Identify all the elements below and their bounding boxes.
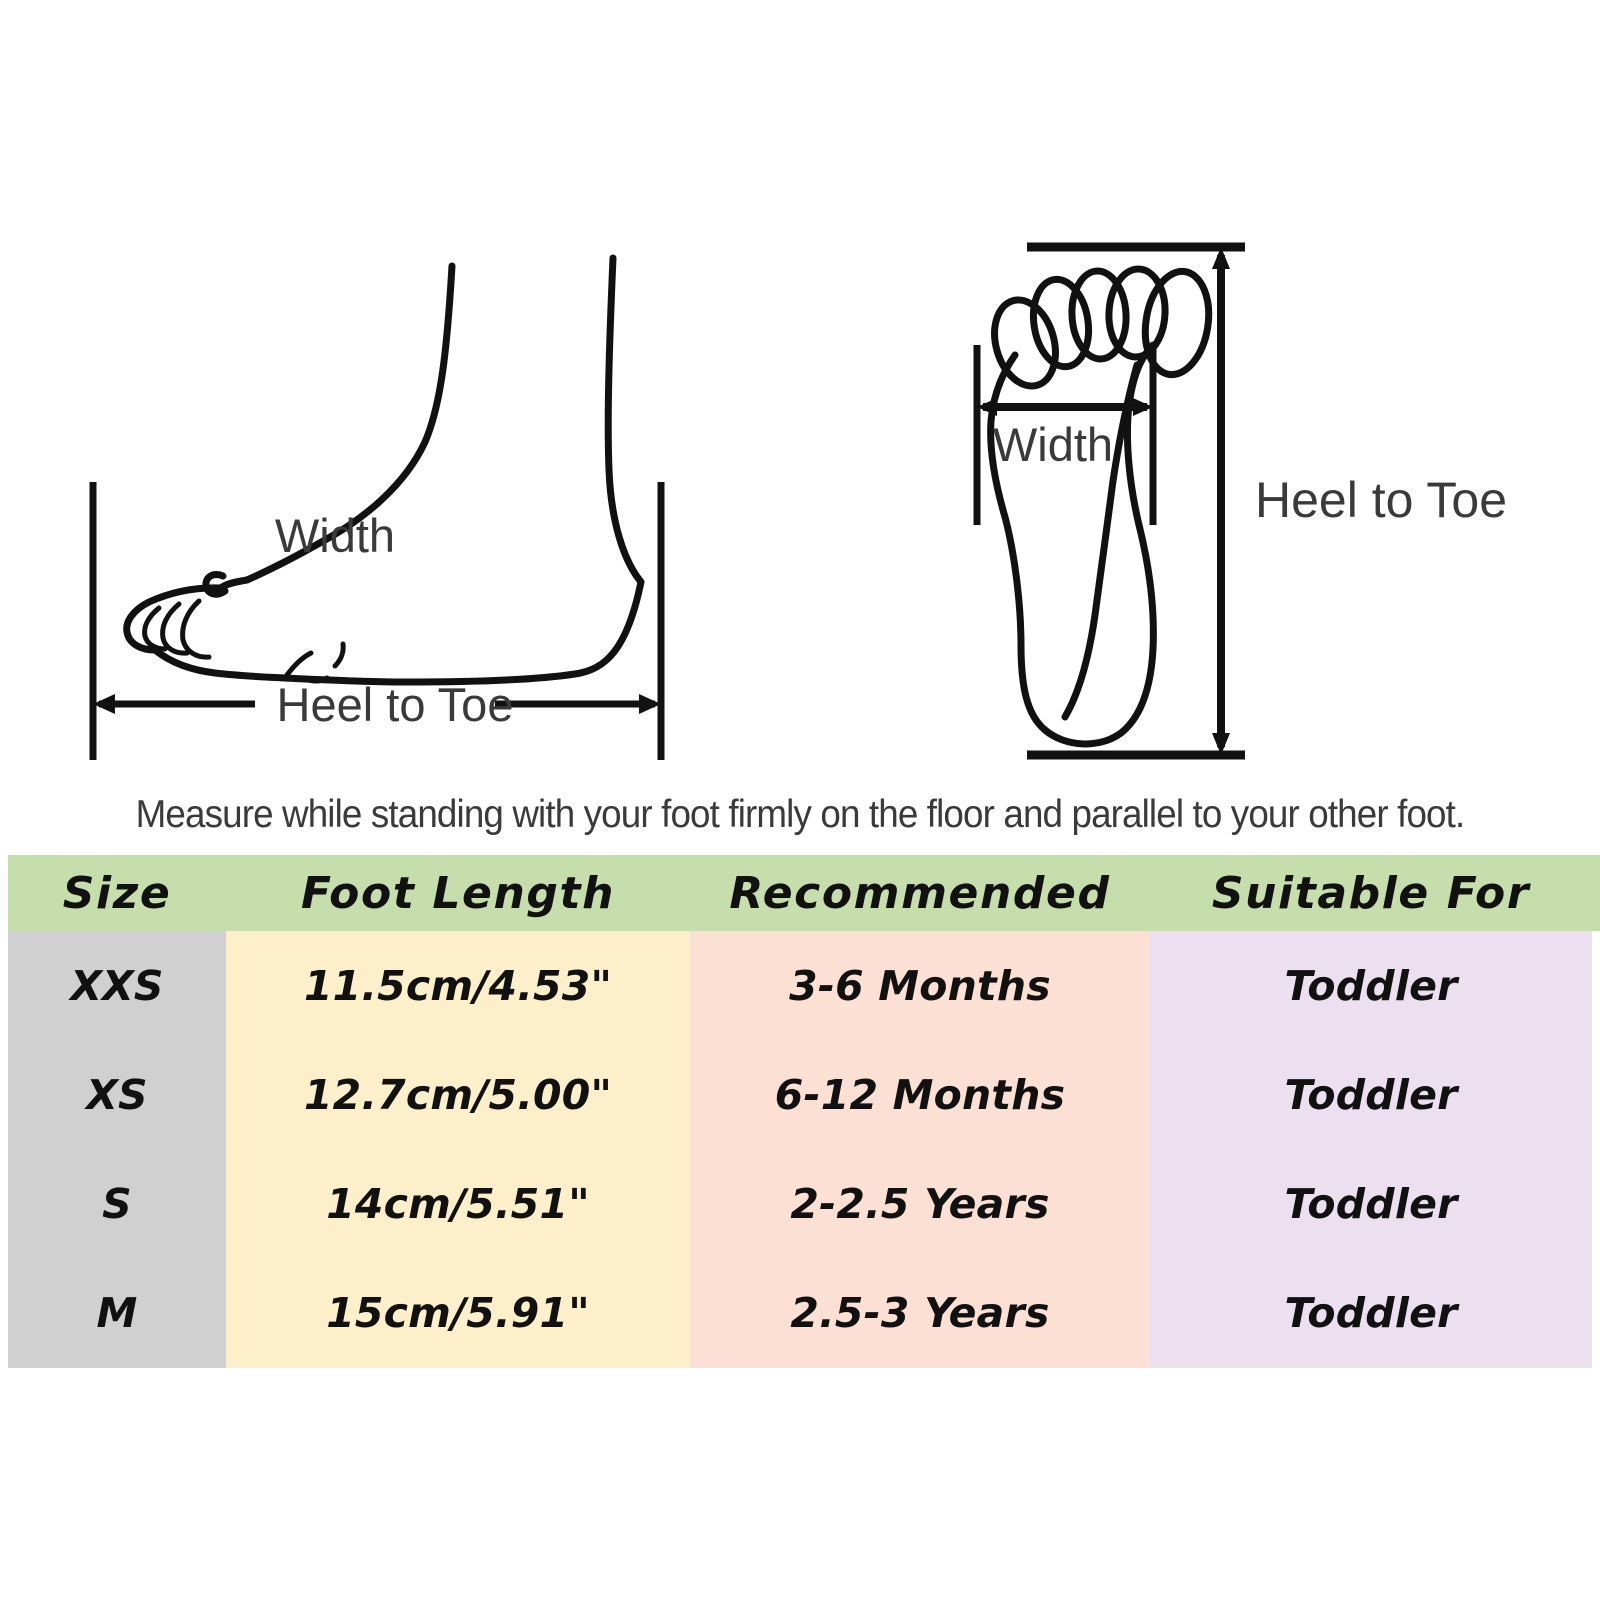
measurement-diagrams: Heel to Toe Width (0, 230, 1600, 790)
cell-size: S (8, 1150, 226, 1259)
table-header-row: Size Foot Length Recommended Suitable Fo… (8, 855, 1592, 931)
cell-size: XS (8, 1040, 226, 1149)
cell-recommended: 2.5-3 Years (690, 1259, 1150, 1368)
column-header-size: Size (8, 855, 226, 931)
cell-suitable-for: Toddler (1150, 1259, 1592, 1368)
cell-recommended: 2-2.5 Years (690, 1150, 1150, 1259)
cell-foot-length: 12.7cm/5.00" (226, 1040, 690, 1149)
foot-top-view-diagram: Width Heel to Toe (915, 225, 1555, 785)
cell-suitable-for: Toddler (1150, 1040, 1592, 1149)
cell-foot-length: 11.5cm/4.53" (226, 931, 690, 1040)
cell-recommended: 3-6 Months (690, 931, 1150, 1040)
cell-foot-length: 14cm/5.51" (226, 1150, 690, 1259)
size-chart-table: Size Foot Length Recommended Suitable Fo… (8, 855, 1592, 1368)
cell-size: XXS (8, 931, 226, 1040)
cell-foot-length: 15cm/5.91" (226, 1259, 690, 1368)
table-row: XS 12.7cm/5.00" 6-12 Months Toddler (8, 1040, 1592, 1149)
cell-size: M (8, 1259, 226, 1368)
side-view-heel-to-toe-label: Heel to Toe (277, 678, 514, 731)
cell-recommended: 6-12 Months (690, 1040, 1150, 1149)
top-view-heel-to-toe-label: Heel to Toe (1255, 472, 1507, 528)
cell-suitable-for: Toddler (1150, 931, 1592, 1040)
foot-top-view-svg: Width Heel to Toe (915, 225, 1555, 785)
size-chart-page: Heel to Toe Width (0, 0, 1600, 1600)
table-row: XXS 11.5cm/4.53" 3-6 Months Toddler (8, 931, 1592, 1040)
column-header-suitable-for: Suitable For (1150, 855, 1592, 931)
column-header-recommended: Recommended (690, 855, 1150, 931)
cell-suitable-for: Toddler (1150, 1150, 1592, 1259)
foot-side-view-svg: Heel to Toe Width (75, 230, 675, 770)
heel-to-toe-vertical-arrow (1212, 247, 1230, 755)
side-view-width-label: Width (275, 509, 395, 562)
measurement-instruction-text: Measure while standing with your foot fi… (36, 793, 1564, 837)
table-row: M 15cm/5.91" 2.5-3 Years Toddler (8, 1259, 1592, 1368)
top-view-width-label: Width (993, 418, 1113, 471)
foot-side-view-diagram: Heel to Toe Width (75, 230, 675, 770)
table-row: S 14cm/5.51" 2-2.5 Years Toddler (8, 1150, 1592, 1259)
column-header-foot-length: Foot Length (226, 855, 690, 931)
